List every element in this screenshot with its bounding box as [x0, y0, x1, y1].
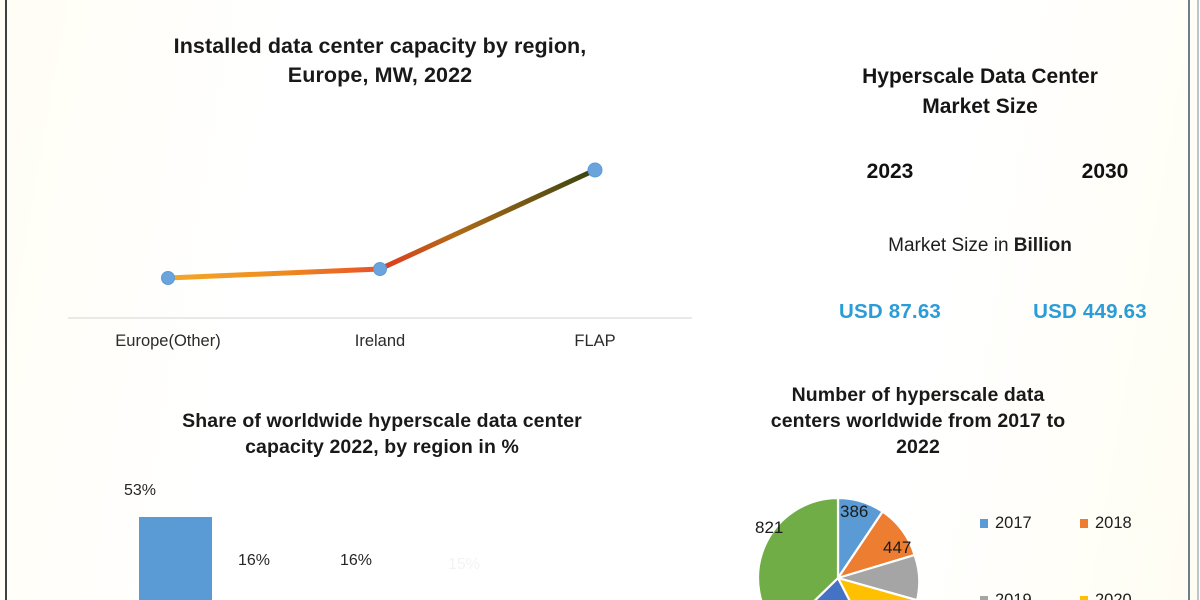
market-size-title: Hyperscale Data Center Market Size: [810, 62, 1150, 122]
legend-label-2018: 2018: [1095, 514, 1132, 533]
pie-chart-title-line1: Number of hyperscale data: [712, 382, 1124, 408]
pie-chart-value-2018: 447: [883, 538, 911, 558]
legend-swatch-2018-icon: [1080, 519, 1088, 528]
pie-slice-2022: [758, 498, 838, 600]
line-chart-title: Installed data center capacity by region…: [70, 32, 690, 90]
pie-chart-plot: 386 447 821: [700, 470, 990, 600]
bar-chart-title-line1: Share of worldwide hyperscale data cente…: [62, 408, 702, 434]
legend-label-2017: 2017: [995, 514, 1032, 533]
pie-chart-svg: [700, 470, 990, 600]
pie-chart-value-2022: 821: [755, 518, 783, 538]
legend-label-2020: 2020: [1095, 591, 1132, 600]
bar-chart-bar-1: [139, 517, 212, 600]
data-point-europe-other: [162, 272, 175, 285]
line-chart-svg: [60, 150, 700, 360]
market-size-panel: Hyperscale Data Center Market Size 2023 …: [770, 52, 1190, 342]
market-size-subtitle: Market Size in Billion: [790, 235, 1170, 257]
pie-chart-value-2017: 386: [840, 502, 868, 522]
line-chart-plot: Europe(Other) Ireland FLAP: [60, 150, 700, 360]
market-size-title-line2: Market Size: [810, 92, 1150, 122]
market-size-value-end: USD 449.63: [1005, 300, 1175, 324]
legend-item-2020[interactable]: 2020: [1080, 591, 1132, 600]
line-chart-title-line1: Installed data center capacity by region…: [70, 32, 690, 61]
infographic-canvas: Installed data center capacity by region…: [0, 0, 1200, 600]
line-chart-xtick-ireland: Ireland: [310, 332, 450, 351]
page-border-right-outer: [1197, 0, 1199, 600]
market-size-value-start: USD 87.63: [805, 300, 975, 324]
bar-chart-label-3: 16%: [326, 552, 386, 570]
bar-chart-label-4: 15%: [434, 556, 494, 574]
bar-chart-title: Share of worldwide hyperscale data cente…: [62, 408, 702, 460]
page-border-left: [5, 0, 7, 600]
legend-swatch-2017-icon: [980, 519, 988, 528]
bar-chart-plot: 53% 16% 16% 15%: [60, 478, 700, 600]
bar-chart-label-1: 53%: [110, 482, 170, 500]
pie-chart-title-line3: 2022: [712, 434, 1124, 460]
data-point-ireland: [374, 263, 387, 276]
legend-item-2018[interactable]: 2018: [1080, 514, 1132, 533]
legend-swatch-2019-icon: [980, 596, 988, 600]
legend-item-2017[interactable]: 2017: [980, 514, 1032, 533]
market-size-year-start: 2023: [830, 160, 950, 184]
bar-chart-title-line2: capacity 2022, by region in %: [62, 434, 702, 460]
legend-label-2019: 2019: [995, 591, 1032, 600]
line-chart-xtick-europe-other: Europe(Other): [98, 332, 238, 351]
data-point-flap: [588, 163, 602, 177]
market-size-subtitle-unit: Billion: [1014, 235, 1072, 256]
pie-chart-title: Number of hyperscale data centers worldw…: [712, 382, 1124, 460]
line-chart-xtick-flap: FLAP: [525, 332, 665, 351]
line-segment-ireland-flap: [380, 170, 595, 269]
pie-chart-title-line2: centers worldwide from 2017 to: [712, 408, 1124, 434]
bar-chart-label-2: 16%: [224, 552, 284, 570]
pie-chart-legend: 2017 2018 2019 2020: [980, 500, 1180, 600]
market-size-subtitle-prefix: Market Size in: [888, 235, 1014, 256]
market-size-year-end: 2030: [1045, 160, 1165, 184]
line-segment-europe-ireland: [168, 269, 380, 278]
legend-item-2019[interactable]: 2019: [980, 591, 1032, 600]
market-size-title-line1: Hyperscale Data Center: [810, 62, 1150, 92]
legend-swatch-2020-icon: [1080, 596, 1088, 600]
line-chart-title-line2: Europe, MW, 2022: [70, 61, 690, 90]
